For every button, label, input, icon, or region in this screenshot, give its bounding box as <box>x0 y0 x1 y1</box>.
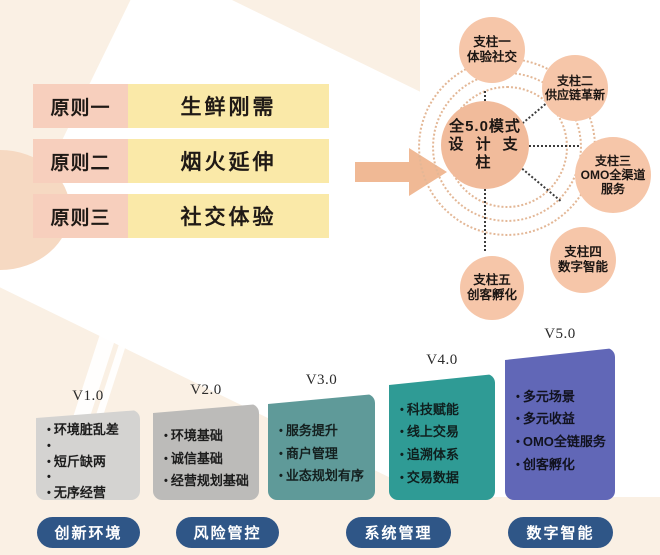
list-item: 环境脏乱差 <box>47 419 140 442</box>
list-item: 多元场景 <box>516 386 615 409</box>
version-list-v4: 科技赋能 线上交易 追溯体系 交易数据 <box>400 399 495 490</box>
pill-button-innovation-environment[interactable]: 创新环境 <box>37 517 140 548</box>
pillar-4-line2: 数字智能 <box>558 260 608 275</box>
pill-button-digital-intelligence[interactable]: 数字智能 <box>508 517 613 548</box>
version-card-v2[interactable]: V2.0 环境基础 诚信基础 经营规划基础 <box>153 404 259 500</box>
pillar-3-line1: 支柱三 <box>595 154 631 168</box>
pillar-node-5[interactable]: 支柱五 创客孵化 <box>460 256 524 320</box>
principle-tag-2: 原则二 <box>33 139 128 183</box>
version-card-v4[interactable]: V4.0 科技赋能 线上交易 追溯体系 交易数据 <box>389 374 495 500</box>
pillar-node-2[interactable]: 支柱二 供应链革新 <box>542 55 608 121</box>
list-item-bullet-stray <box>47 442 140 451</box>
principle-value-2: 烟火延伸 <box>128 139 329 183</box>
version-label-v5: V5.0 <box>505 326 615 343</box>
pillar-2-line2: 供应链革新 <box>545 88 605 102</box>
list-item-bullet-stray <box>47 473 140 482</box>
version-body-v3: 服务提升 商户管理 业态规划有序 <box>268 394 375 500</box>
hub-connector-5 <box>484 189 486 251</box>
version-card-v1[interactable]: V1.0 环境脏乱差 短斤缺两 无序经营 <box>36 410 140 500</box>
version-body-v4: 科技赋能 线上交易 追溯体系 交易数据 <box>389 374 495 500</box>
list-item: 创客孵化 <box>516 454 615 477</box>
list-item: 商户管理 <box>279 443 375 466</box>
pill-button-risk-control[interactable]: 风险管控 <box>176 517 279 548</box>
version-label-v2: V2.0 <box>153 382 259 399</box>
list-item: 交易数据 <box>400 467 495 490</box>
principle-row: 原则二 烟火延伸 <box>33 139 329 183</box>
hub-center-line2: 设 计 支 柱 <box>441 136 529 171</box>
list-item: 服务提升 <box>279 420 375 443</box>
version-list-v3: 服务提升 商户管理 业态规划有序 <box>279 420 375 488</box>
version-label-v4: V4.0 <box>389 352 495 369</box>
pillar-1-line1: 支柱一 <box>473 35 511 50</box>
list-item: OMO全链服务 <box>516 431 615 454</box>
list-item: 科技赋能 <box>400 399 495 422</box>
version-label-v1: V1.0 <box>36 388 140 405</box>
hub-center-node: 全5.0模式 设 计 支 柱 <box>441 101 529 189</box>
version-label-v3: V3.0 <box>268 372 375 389</box>
version-body-v2: 环境基础 诚信基础 经营规划基础 <box>153 404 259 500</box>
list-item: 线上交易 <box>400 421 495 444</box>
pillar-5-line2: 创客孵化 <box>467 288 517 303</box>
principles-block: 原则一 生鲜刚需 原则二 烟火延伸 原则三 社交体验 <box>33 84 329 249</box>
principle-value-1: 生鲜刚需 <box>128 84 329 128</box>
pillar-node-1[interactable]: 支柱一 体验社交 <box>459 17 525 83</box>
pillar-node-4[interactable]: 支柱四 数字智能 <box>550 227 616 293</box>
version-body-v5: 多元场景 多元收益 OMO全链服务 创客孵化 <box>505 348 615 500</box>
list-item: 短斤缺两 <box>47 451 140 474</box>
pillar-node-3[interactable]: 支柱三 OMO全渠道 服务 <box>575 137 651 213</box>
list-item: 经营规划基础 <box>164 470 259 493</box>
list-item: 追溯体系 <box>400 444 495 467</box>
pillar-3-line2: OMO全渠道 <box>581 168 646 182</box>
pillar-3-line3: 服务 <box>601 182 625 196</box>
pillar-1-line2: 体验社交 <box>467 50 517 65</box>
pillar-4-line1: 支柱四 <box>564 245 602 260</box>
infographic-canvas: 原则一 生鲜刚需 原则二 烟火延伸 原则三 社交体验 全5.0模式 设 计 支 … <box>0 0 660 555</box>
hub-connector-3 <box>529 145 579 147</box>
pillar-5-line1: 支柱五 <box>473 273 511 288</box>
list-item: 环境基础 <box>164 425 259 448</box>
list-item: 诚信基础 <box>164 448 259 471</box>
version-list-v1: 环境脏乱差 短斤缺两 无序经营 <box>47 419 140 505</box>
list-item: 业态规划有序 <box>279 465 375 488</box>
list-item: 多元收益 <box>516 408 615 431</box>
version-card-v3[interactable]: V3.0 服务提升 商户管理 业态规划有序 <box>268 394 375 500</box>
hub-center-line1: 全5.0模式 <box>449 118 521 136</box>
version-list-v5: 多元场景 多元收益 OMO全链服务 创客孵化 <box>516 386 615 477</box>
version-card-v5[interactable]: V5.0 多元场景 多元收益 OMO全链服务 创客孵化 <box>505 348 615 500</box>
principle-row: 原则三 社交体验 <box>33 194 329 238</box>
principle-row: 原则一 生鲜刚需 <box>33 84 329 128</box>
principle-tag-1: 原则一 <box>33 84 128 128</box>
pillar-2-line1: 支柱二 <box>557 74 593 88</box>
pill-button-system-management[interactable]: 系统管理 <box>346 517 451 548</box>
pillar-hub: 全5.0模式 设 计 支 柱 支柱一 体验社交 支柱二 供应链革新 支柱三 OM… <box>380 0 660 330</box>
principle-tag-3: 原则三 <box>33 194 128 238</box>
version-body-v1: 环境脏乱差 短斤缺两 无序经营 <box>36 410 140 500</box>
version-list-v2: 环境基础 诚信基础 经营规划基础 <box>164 425 259 493</box>
principle-value-3: 社交体验 <box>128 194 329 238</box>
